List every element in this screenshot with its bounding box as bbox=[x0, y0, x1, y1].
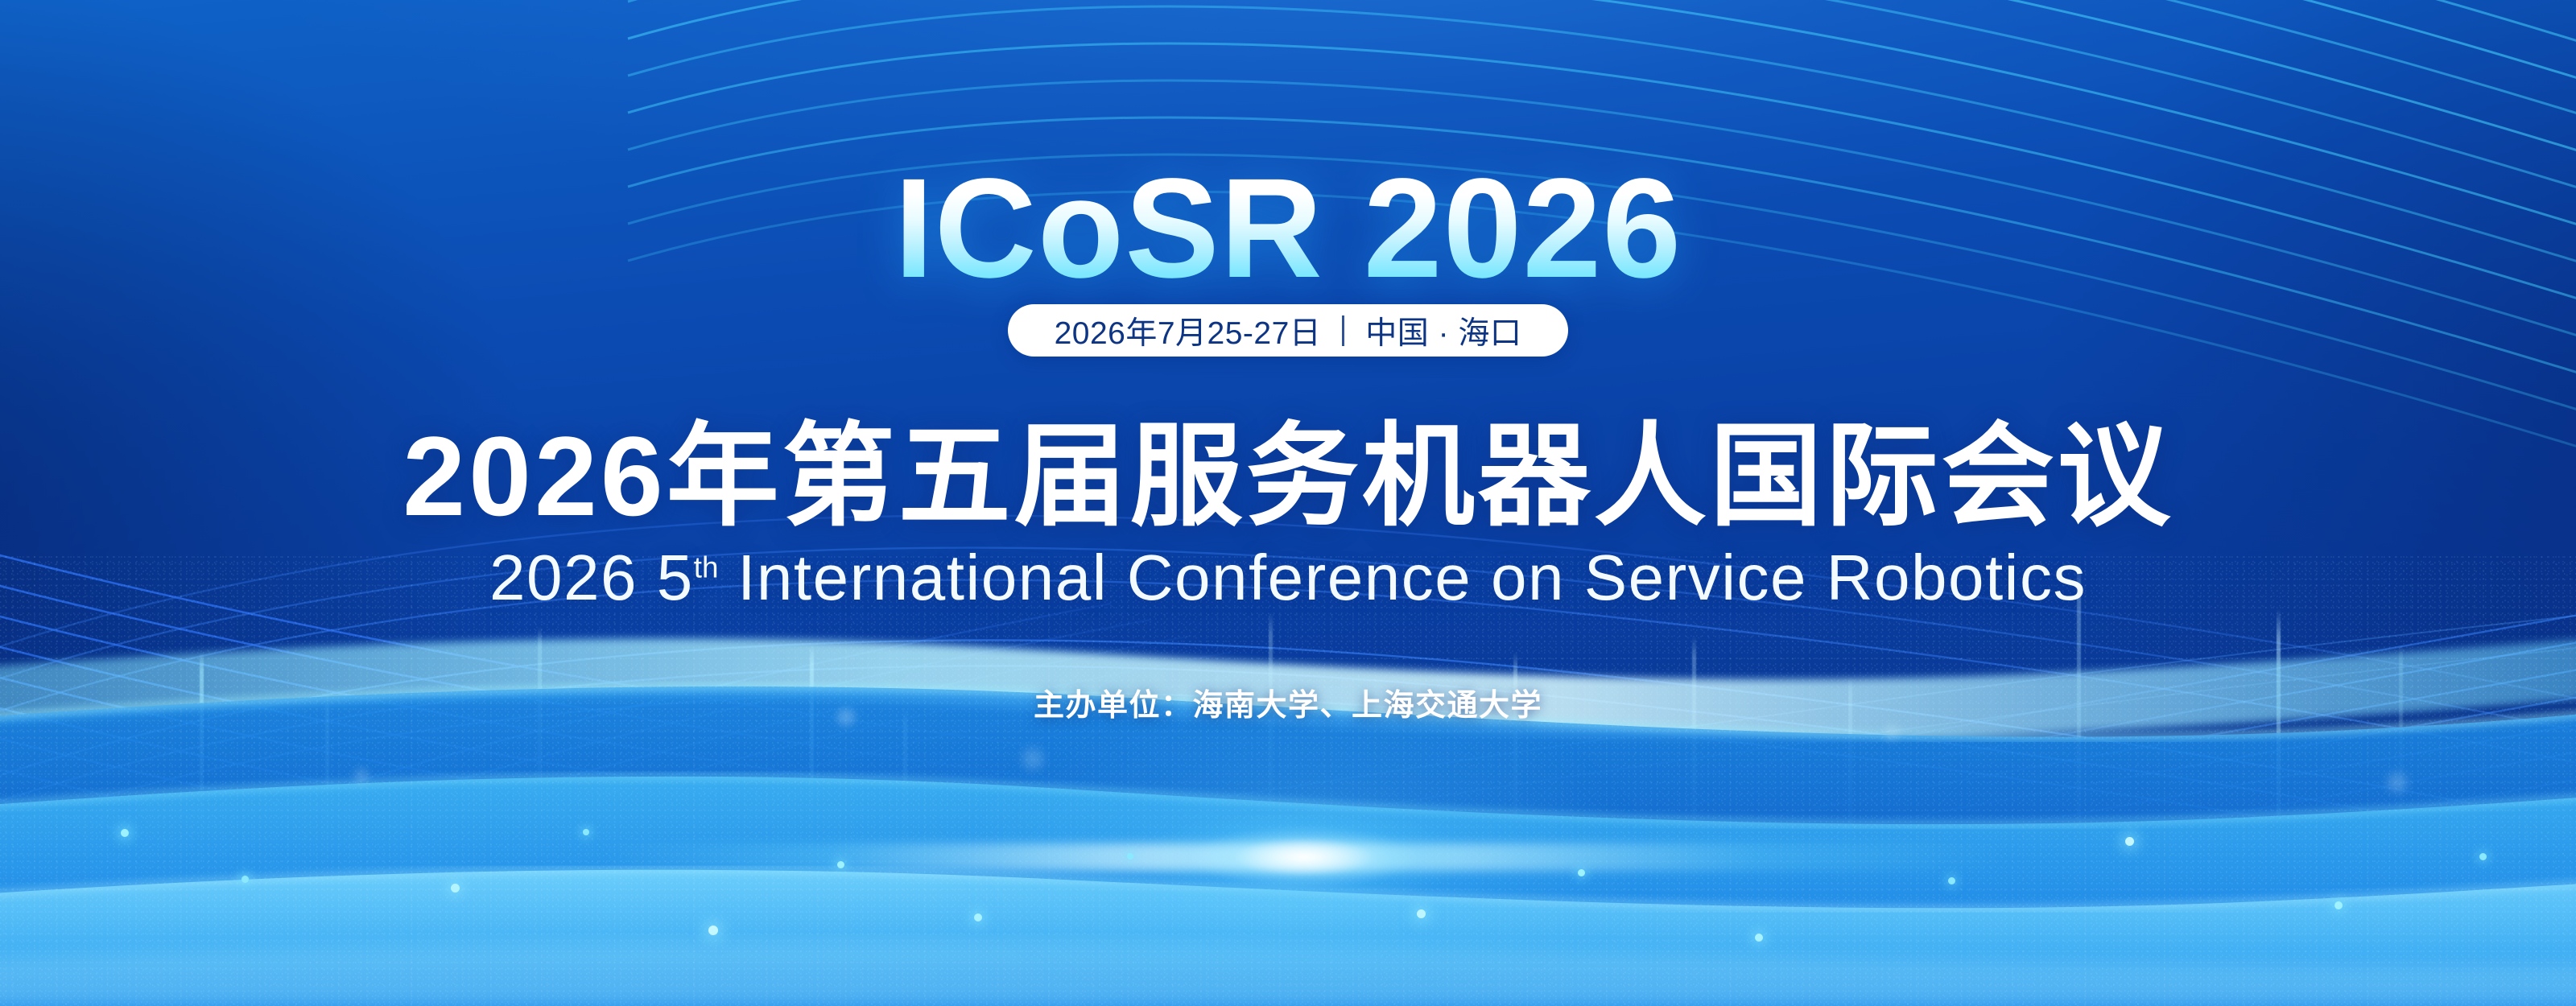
banner-content: ICoSR 2026 2026年7月25-27日 中国 · 海口 2026年第五… bbox=[0, 0, 2576, 1006]
conference-logo-title: ICoSR 2026 bbox=[0, 158, 2576, 299]
conference-title-english: 2026 5th International Conference on Ser… bbox=[0, 546, 2576, 610]
conference-banner: ICoSR 2026 2026年7月25-27日 中国 · 海口 2026年第五… bbox=[0, 0, 2576, 1006]
date-location-badge-row: 2026年7月25-27日 中国 · 海口 bbox=[0, 304, 2576, 357]
title-english-ordinal-suffix: th bbox=[694, 550, 719, 583]
title-english-prefix: 2026 5 bbox=[489, 542, 694, 613]
organizer-line: 主办单位：海南大学、上海交通大学 bbox=[0, 680, 2576, 724]
date-location-badge: 2026年7月25-27日 中国 · 海口 bbox=[1008, 304, 1569, 357]
conference-title-chinese: 2026年第五届服务机器人国际会议 bbox=[0, 420, 2576, 533]
title-english-rest: International Conference on Service Robo… bbox=[718, 542, 2087, 613]
conference-date: 2026年7月25-27日 bbox=[1055, 308, 1322, 353]
conference-location: 中国 · 海口 bbox=[1365, 308, 1521, 353]
badge-separator-divider bbox=[1342, 315, 1344, 346]
